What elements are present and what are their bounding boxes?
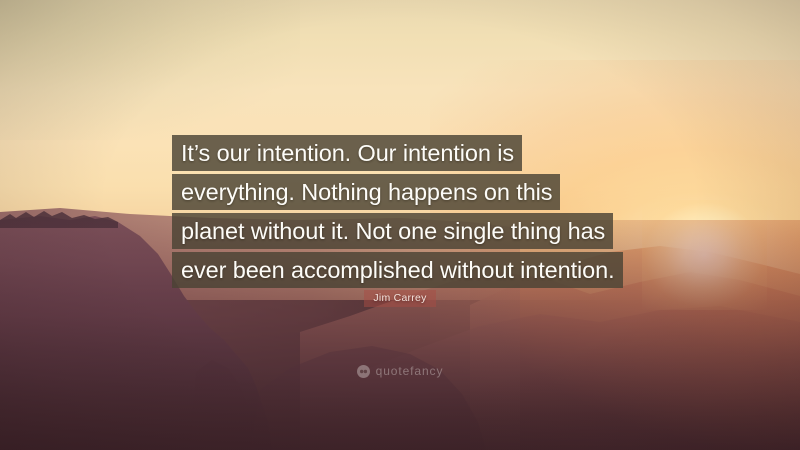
quote-line: It’s our intention. Our intention is: [172, 135, 522, 171]
watermark-brand: quotefancy: [376, 365, 444, 378]
quote-mark-icon: [357, 365, 370, 378]
quote-line: planet without it. Not one single thing …: [172, 213, 613, 249]
wallpaper-canvas: It’s our intention. Our intention is eve…: [0, 0, 800, 450]
quote-line: ever been accomplished without intention…: [172, 252, 623, 288]
author-attribution: Jim Carrey: [0, 290, 800, 307]
watermark: quotefancy: [0, 365, 800, 378]
author-name: Jim Carrey: [364, 290, 435, 307]
sky-corner-tint: [0, 0, 300, 140]
quote-block: It’s our intention. Our intention is eve…: [0, 135, 800, 291]
quote-line: everything. Nothing happens on this: [172, 174, 560, 210]
